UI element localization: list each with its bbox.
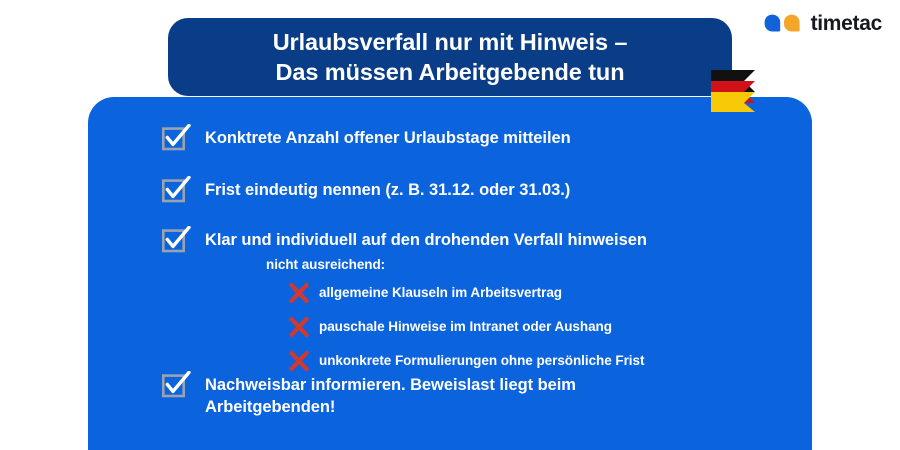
german-flag-icon [711, 66, 765, 112]
not-sufficient-list: allgemeine Klauseln im Arbeitsvertrag pa… [288, 282, 644, 372]
checkbox-checked-icon [162, 226, 191, 253]
checklist-item: Nachweisbar informieren. Beweislast lieg… [162, 372, 576, 418]
not-sufficient-item-label: allgemeine Klauseln im Arbeitsvertrag [319, 285, 562, 301]
header-card: Urlaubsverfall nur mit Hinweis – Das müs… [168, 18, 732, 96]
checkbox-checked-icon [162, 124, 191, 151]
cross-icon [288, 282, 310, 304]
checklist-item: Konktrete Anzahl offener Urlaubstage mit… [162, 125, 571, 151]
page-title: Urlaubsverfall nur mit Hinweis – Das müs… [273, 27, 628, 87]
checklist-item: Frist eindeutig nennen (z. B. 31.12. ode… [162, 177, 570, 203]
checklist-item-label: Frist eindeutig nennen (z. B. 31.12. ode… [205, 177, 570, 201]
not-sufficient-item: pauschale Hinweise im Intranet oder Aush… [288, 316, 644, 338]
not-sufficient-item-label: unkonkrete Formulierungen ohne persönlic… [319, 353, 644, 369]
not-sufficient-item: allgemeine Klauseln im Arbeitsvertrag [288, 282, 644, 304]
timetac-logo: timetac [763, 8, 882, 38]
checklist-item-label: Konktrete Anzahl offener Urlaubstage mit… [205, 125, 571, 149]
content-panel: Konktrete Anzahl offener Urlaubstage mit… [88, 97, 812, 450]
timetac-logo-text: timetac [811, 13, 882, 34]
checklist-item: Klar und individuell auf den drohenden V… [162, 227, 647, 253]
checklist: Konktrete Anzahl offener Urlaubstage mit… [88, 97, 812, 450]
infographic-canvas: timetac Konktrete Anzahl offener Urlaubs… [0, 0, 900, 450]
not-sufficient-item-label: pauschale Hinweise im Intranet oder Aush… [319, 319, 612, 335]
timetac-logo-mark-icon [763, 14, 803, 32]
checkbox-checked-icon [162, 371, 191, 398]
not-sufficient-heading: nicht ausreichend: [266, 257, 385, 272]
cross-icon [288, 316, 310, 338]
cross-icon [288, 350, 310, 372]
checkbox-checked-icon [162, 176, 191, 203]
checklist-item-label: Nachweisbar informieren. Beweislast lieg… [205, 372, 576, 418]
checklist-item-label: Klar und individuell auf den drohenden V… [205, 227, 647, 251]
not-sufficient-item: unkonkrete Formulierungen ohne persönlic… [288, 350, 644, 372]
